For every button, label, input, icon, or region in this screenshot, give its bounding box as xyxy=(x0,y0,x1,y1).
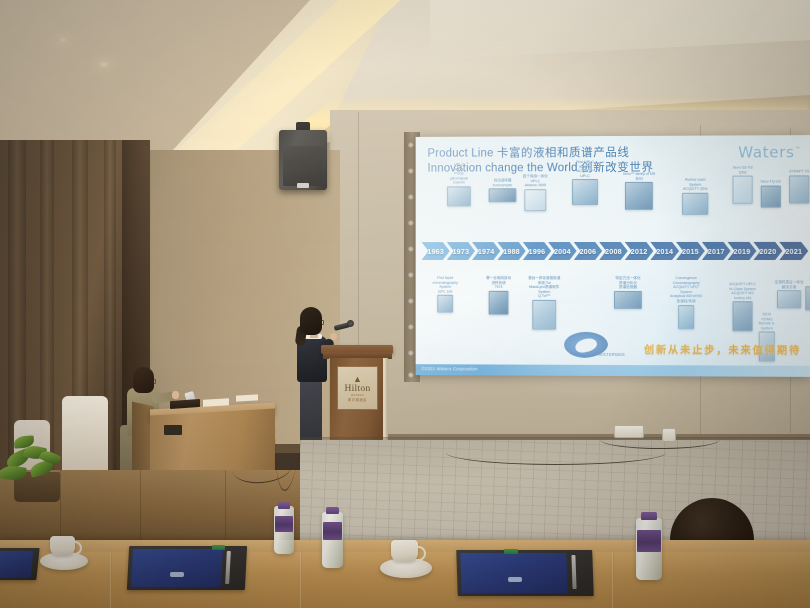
product-item-bottom-1: 第一台商用自动 进样系统 7674 xyxy=(477,276,521,315)
tablecloth-fold xyxy=(612,552,614,608)
conference-room-photo: Product Line 卡富的液相和质谱产品线 Innovation chan… xyxy=(0,0,810,608)
slide-title-cn-1: 卡富的液相和质谱产品线 xyxy=(497,147,630,160)
timeline-year-1973: 1973 xyxy=(447,242,475,260)
screen-eyelet-icon xyxy=(408,324,414,330)
hilton-chinese-name: 希尔顿酒店 xyxy=(348,397,367,402)
product-label: Xevo TQ-XS 质谱仪 xyxy=(797,276,810,285)
folder-notepad[interactable] xyxy=(0,551,33,578)
folder-notepad[interactable] xyxy=(131,549,223,587)
bottle-label xyxy=(323,522,342,540)
host-hair xyxy=(133,367,154,393)
product-label: Convergence Chromatography ACQUITY UPC² … xyxy=(664,276,708,304)
downlight-icon xyxy=(97,62,111,67)
coffee-cup[interactable] xyxy=(391,540,418,562)
water-bottle[interactable] xyxy=(322,512,343,568)
product-thumbnail xyxy=(678,305,694,329)
product-thumbnail xyxy=(447,186,471,206)
timeline-year-2006: 2006 xyxy=(574,242,603,260)
timeline-year-2017: 2017 xyxy=(702,242,731,260)
product-item-bottom-4: Convergence Chromatography ACQUITY UPC² … xyxy=(664,276,708,329)
product-thumbnail xyxy=(489,188,517,202)
folder-notepad[interactable] xyxy=(460,553,567,593)
product-item-top-3: First UPLC System ACQUITY UPLC xyxy=(566,160,604,205)
product-label: ACQUITY UPLC M-Class System ACQUITY MS I… xyxy=(720,282,764,301)
slide-slogan: 创新从未止步，未来值得期待 xyxy=(644,341,801,357)
product-label: First UPLC System ACQUITY UPLC xyxy=(566,160,604,178)
product-item-bottom-3: 特定方法一体化 质谱分析仪 质谱检测器 xyxy=(606,276,650,309)
folder-logo-icon xyxy=(170,572,184,577)
product-label: First liquid chromatography System GPC 1… xyxy=(424,276,467,294)
screen-eyelet-icon xyxy=(408,372,414,378)
product-thumbnail xyxy=(524,189,546,211)
timeline-year-2008: 2008 xyxy=(599,242,628,260)
screen-eyelet-icon xyxy=(408,298,414,304)
folder-clip-icon xyxy=(504,549,518,554)
product-thumbnail xyxy=(489,291,509,315)
wall-recess xyxy=(164,425,182,435)
wall-socket[interactable] xyxy=(662,428,676,442)
slide-footer-bar: ©2021 Waters Corporation xyxy=(416,364,810,377)
bottle-label xyxy=(275,516,293,532)
bottle-label xyxy=(637,530,661,552)
product-thumbnail xyxy=(614,291,642,309)
timeline-year-1974: 1974 xyxy=(472,242,500,260)
folder-logo-icon xyxy=(508,577,522,582)
product-label: Xevo™ family of MS 系列 xyxy=(619,172,659,181)
folder-clip-icon xyxy=(212,545,225,550)
screen-eyelet-icon xyxy=(408,350,414,356)
bottle-cap[interactable] xyxy=(326,507,339,514)
micromass-logo: Micromass xyxy=(564,332,636,362)
tablecloth-fold xyxy=(110,552,112,608)
product-thumbnail xyxy=(789,175,809,203)
timeline-year-1996: 1996 xyxy=(523,242,551,260)
product-item-top-0: HPLC M6000 Pump µBondapak Column xyxy=(441,162,477,206)
timeline-year-2015: 2015 xyxy=(676,242,705,260)
speaker-grill xyxy=(283,146,323,186)
bottle-cap[interactable] xyxy=(641,512,657,520)
timeline-year-2019: 2019 xyxy=(728,242,757,260)
product-thumbnail xyxy=(625,182,653,210)
product-thumbnail xyxy=(761,185,781,207)
product-thumbnail xyxy=(572,179,598,205)
product-item-bottom-0: First liquid chromatography System GPC 1… xyxy=(424,276,467,313)
presenter-hand xyxy=(330,333,337,340)
hilton-crest-icon: ▲ xyxy=(353,375,362,384)
timeline-year-1988: 1988 xyxy=(497,242,525,260)
screen-eyelet-icon xyxy=(408,220,414,226)
floor-plank-line xyxy=(140,470,141,545)
wall-speaker xyxy=(279,130,327,190)
podium-logo-panel: ▲ Hilton HOTELS 希尔顿酒店 xyxy=(337,366,378,410)
product-thumbnail xyxy=(437,295,453,313)
timeline-year-2012: 2012 xyxy=(625,242,654,260)
product-label: SYNAPT XS xyxy=(783,169,810,174)
screen-eyelet-icon xyxy=(408,168,414,174)
product-item-top-8: SYNAPT XS xyxy=(783,169,810,203)
microphone-head-icon xyxy=(347,320,354,327)
product-label: 首台一体化液相色谱 系统,Tof MassLynx质谱软件 System Q-T… xyxy=(522,276,566,299)
product-label: 自动进样器 Autosampler xyxy=(483,178,523,187)
product-thumbnail xyxy=(805,286,810,310)
floor-plank-line xyxy=(60,470,61,545)
speaker-badge-icon xyxy=(297,183,309,188)
bottle-cap[interactable] xyxy=(278,502,290,509)
projection-screen: Product Line 卡富的液相和质谱产品线 Innovation chan… xyxy=(416,135,810,377)
product-label: 第一台商用自动 进样系统 7674 xyxy=(477,276,521,290)
presentation-slide: Product Line 卡富的液相和质谱产品线 Innovation chan… xyxy=(416,135,810,377)
wall-outlet-panel[interactable] xyxy=(614,425,644,438)
floor-plank-line xyxy=(225,470,226,545)
coffee-cup[interactable] xyxy=(50,536,75,556)
product-label: DESI XS/MS Remote IL System xyxy=(745,312,790,331)
product-item-bottom-7: Xevo TQ-XS 质谱仪 xyxy=(797,276,810,311)
slide-title-en-1: Product Line xyxy=(427,148,493,160)
product-label: 首个商用一体化 HPLC Alliance 2695 xyxy=(518,174,552,188)
timeline-year-2020: 2020 xyxy=(753,242,782,260)
host-hand xyxy=(172,391,179,399)
product-label: Ro/ime Ioam System ACQUITY QDa xyxy=(676,178,714,192)
timeline-year-2021: 2021 xyxy=(779,242,808,260)
tablecloth-fold xyxy=(300,552,302,608)
screen-eyelet-icon xyxy=(408,272,414,278)
product-item-top-5: Ro/ime Ioam System ACQUITY QDa xyxy=(676,178,714,215)
screen-eyelet-icon xyxy=(408,194,414,200)
timeline-year-2004: 2004 xyxy=(548,242,576,260)
screen-eyelet-icon xyxy=(408,142,414,148)
product-thumbnail xyxy=(682,193,708,215)
product-item-top-4: Xevo™ family of MS 系列 xyxy=(619,172,659,210)
product-label: Xevo G2-XS QTof xyxy=(726,165,758,174)
product-thumbnail xyxy=(732,176,752,204)
hilton-wordmark: Hilton xyxy=(344,384,370,394)
product-item-top-1: 自动进样器 Autosampler xyxy=(483,178,523,202)
product-label: HPLC M6000 Pump µBondapak Column xyxy=(441,162,477,185)
downlight-icon xyxy=(57,38,70,42)
screen-eyelet-icon xyxy=(408,246,414,252)
table-paper[interactable] xyxy=(203,398,229,406)
product-label: 特定方法一体化 质谱分析仪 质谱检测器 xyxy=(606,276,650,290)
micromass-wordmark: Micromass xyxy=(598,352,625,358)
presenter-hair xyxy=(300,307,322,335)
table-paper[interactable] xyxy=(236,394,258,401)
product-thumbnail xyxy=(532,300,556,330)
slide-copyright: ©2021 Waters Corporation xyxy=(422,366,478,371)
timeline-chevron-bar: 1963197319741988199620042006200820122014… xyxy=(422,242,806,260)
product-item-bottom-2: 首台一体化液相色谱 系统,Tof MassLynx质谱软件 System Q-T… xyxy=(522,276,566,330)
timeline-year-2014: 2014 xyxy=(650,242,679,260)
trademark-icon: ™ xyxy=(795,146,802,153)
waters-wordmark: Waters xyxy=(738,143,794,161)
waters-brand-logo: Waters™ xyxy=(738,143,801,161)
product-item-top-2: 首个商用一体化 HPLC Alliance 2695 xyxy=(518,174,552,211)
timeline-year-1963: 1963 xyxy=(422,242,450,260)
